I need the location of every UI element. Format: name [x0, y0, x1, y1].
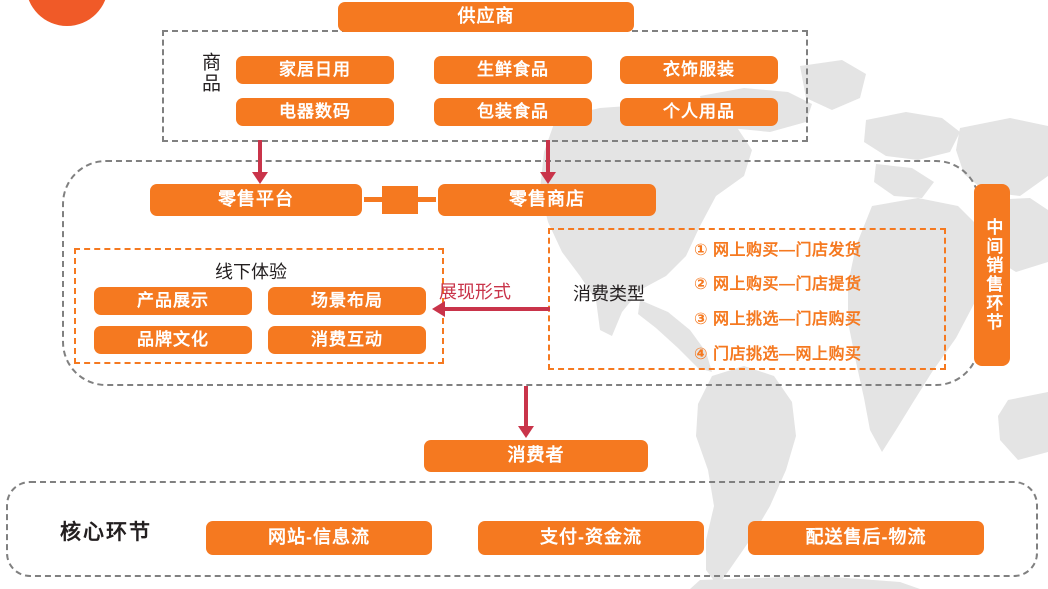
consumption-type-title: 消费类型: [573, 280, 645, 306]
goods-item-home-daily[interactable]: 家居日用: [236, 56, 394, 84]
consumption-type-item-3: ③ 网上挑选—门店购买: [694, 305, 862, 329]
connector-node: [382, 186, 418, 214]
consumption-type-item-2: ② 网上购买—门店提货: [694, 270, 862, 294]
offline-item-consumer-interaction[interactable]: 消费互动: [268, 326, 426, 354]
consumption-type-item-1: ① 网上购买—门店发货: [694, 236, 862, 260]
presentation-form-label: 展现形式: [439, 278, 511, 304]
consumer-box[interactable]: 消费者: [424, 440, 648, 472]
diagram-canvas: 商品 供应商 家居日用 生鲜食品 衣饰服装 电器数码 包装食品 个人用品 中间销…: [0, 0, 1048, 589]
goods-item-personal-care[interactable]: 个人用品: [620, 98, 778, 126]
goods-item-packaged-food[interactable]: 包装食品: [434, 98, 592, 126]
retail-platform-box[interactable]: 零售平台: [150, 184, 362, 216]
offline-item-brand-culture[interactable]: 品牌文化: [94, 326, 252, 354]
middle-section-vertical-label[interactable]: 中间销售环节: [974, 184, 1010, 366]
arrow-goods-to-store: [540, 140, 556, 184]
goods-side-label: 商品: [196, 52, 223, 94]
core-item-delivery-logistics[interactable]: 配送售后-物流: [748, 521, 984, 555]
arrow-middle-to-consumer: [518, 386, 534, 438]
connector-segment-left: [364, 197, 382, 202]
retail-store-box[interactable]: 零售商店: [438, 184, 656, 216]
core-item-website-info-flow[interactable]: 网站-信息流: [206, 521, 432, 555]
supplier-box[interactable]: 供应商: [338, 2, 634, 32]
connector-segment-right: [418, 197, 436, 202]
goods-item-apparel[interactable]: 衣饰服装: [620, 56, 778, 84]
offline-item-scene-layout[interactable]: 场景布局: [268, 287, 426, 315]
consumption-type-item-4: ④ 门店挑选—网上购买: [694, 340, 862, 364]
offline-item-product-display[interactable]: 产品展示: [94, 287, 252, 315]
core-item-payment-cash-flow[interactable]: 支付-资金流: [478, 521, 704, 555]
core-links-title: 核心环节: [60, 516, 152, 546]
goods-item-fresh-food[interactable]: 生鲜食品: [434, 56, 592, 84]
arrow-goods-to-platform: [252, 140, 268, 184]
offline-experience-title: 线下体验: [215, 258, 287, 284]
goods-item-electronics[interactable]: 电器数码: [236, 98, 394, 126]
